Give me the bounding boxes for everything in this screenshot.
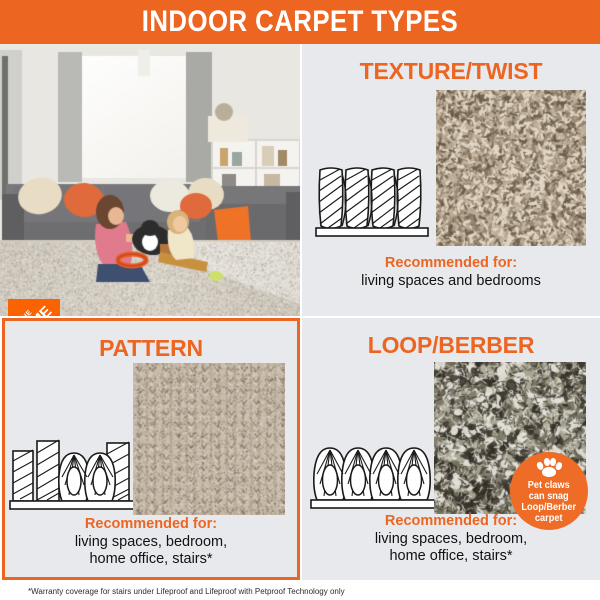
panel-title-pattern: PATTERN <box>5 335 297 362</box>
pet-badge-line-2: can snag <box>522 491 577 502</box>
recommended-line: living spaces, bedroom, <box>5 534 297 552</box>
recommended-line: living spaces, bedroom, <box>302 531 600 549</box>
infographic-root: INDOOR CARPET TYPES THE HOME DEPOT TEXTU… <box>0 0 600 600</box>
pet-claws-warning-badge: Pet claws can snag Loop/Berber carpet <box>510 452 588 530</box>
panel-pattern: PATTERN <box>2 318 300 580</box>
panel-divider-horizontal <box>0 316 600 318</box>
recommendation-texture-twist: Recommended for: living spaces and bedro… <box>302 255 600 290</box>
panel-divider-vertical <box>300 44 302 580</box>
loop-berber-fiber-diagram <box>308 426 438 518</box>
recommended-line: living spaces and bedrooms <box>302 273 600 291</box>
pet-badge-line-4: carpet <box>522 513 577 524</box>
panel-hero-photo: THE HOME DEPOT <box>0 44 300 316</box>
paw-print-icon <box>536 458 562 478</box>
pattern-fiber-diagram <box>7 427 137 519</box>
panel-title-loop-berber: LOOP/BERBER <box>302 332 600 359</box>
recommendation-pattern: Recommended for: living spaces, bedroom,… <box>5 516 297 569</box>
recommended-line: home office, stairs* <box>5 551 297 569</box>
pet-badge-line-3: Loop/Berber <box>522 502 577 513</box>
page-title: INDOOR CARPET TYPES <box>142 5 458 39</box>
footnote: *Warranty coverage for stairs under Life… <box>0 582 600 600</box>
panel-title-texture-twist: TEXTURE/TWIST <box>302 58 600 85</box>
pet-badge-line-1: Pet claws <box>522 480 577 491</box>
texture-twist-fiber-diagram <box>312 154 440 246</box>
the-home-depot-logo: THE HOME DEPOT <box>8 299 60 316</box>
living-room-photo <box>0 44 300 316</box>
page-header: INDOOR CARPET TYPES <box>0 0 600 44</box>
recommended-line: home office, stairs* <box>302 548 600 566</box>
recommended-label: Recommended for: <box>302 255 600 273</box>
texture-twist-carpet-swatch <box>436 90 586 246</box>
footnote-text: *Warranty coverage for stairs under Life… <box>0 587 345 596</box>
recommended-label: Recommended for: <box>5 516 297 534</box>
panel-loop-berber: LOOP/BERBER <box>302 318 600 580</box>
pattern-carpet-swatch <box>133 363 285 515</box>
panel-texture-twist: TEXTURE/TWIST <box>302 44 600 316</box>
